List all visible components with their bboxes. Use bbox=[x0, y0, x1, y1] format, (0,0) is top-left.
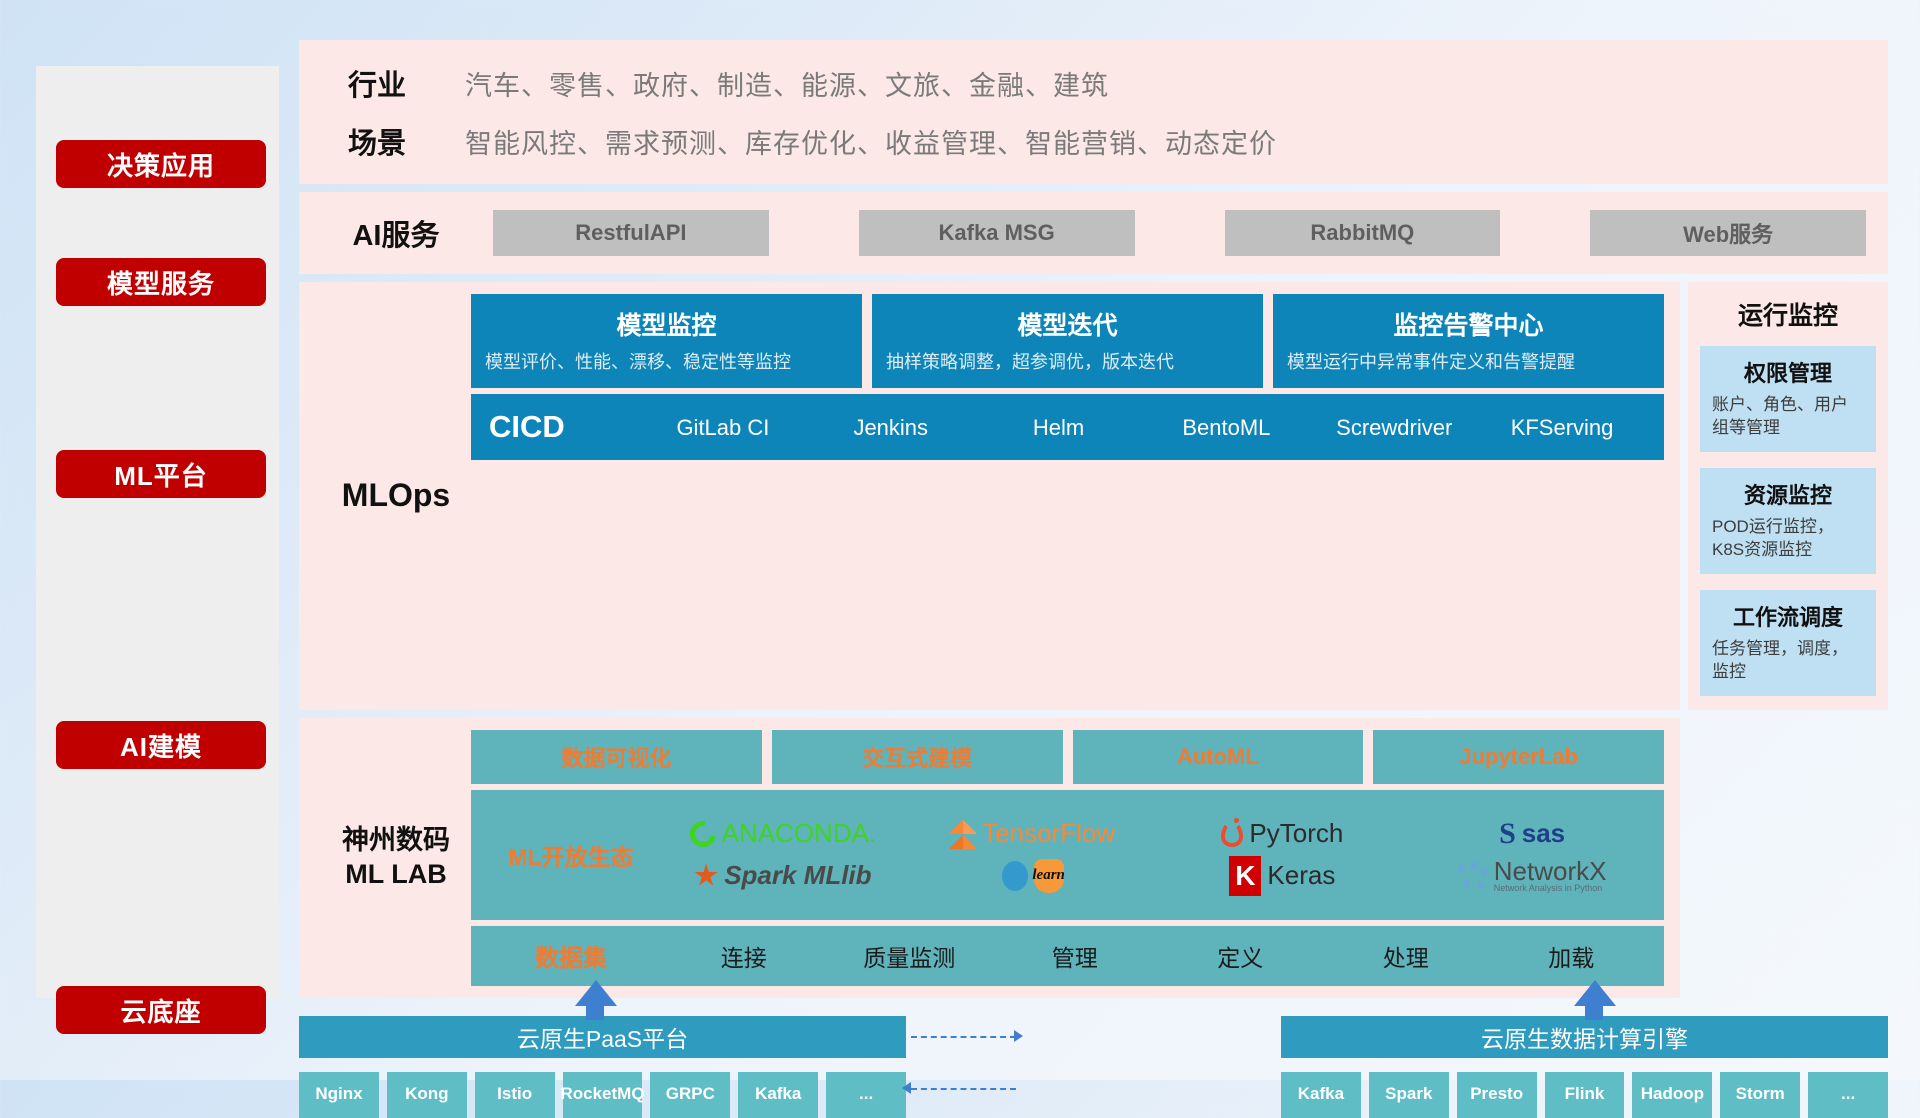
networkx-logo: NetworkX Network Analysis in Python bbox=[1458, 858, 1607, 893]
card-desc: POD运行监控，K8S资源监控 bbox=[1712, 516, 1864, 562]
rail-item-label: 云底座 bbox=[120, 992, 201, 1029]
dataset-item-processing[interactable]: 处理 bbox=[1323, 939, 1489, 973]
ai-modeling-band: 神州数码 ML LAB 数据可视化 交互式建模 AutoML JupyterLa… bbox=[299, 718, 1680, 998]
application-row-scenario: 场景 智能风控、需求预测、库存优化、收益管理、智能营销、动态定价 bbox=[329, 120, 1864, 162]
cloud-base-row: 云原生PaaS平台 Nginx Kong Istio RocketMQ GRPC… bbox=[299, 1016, 1888, 1118]
modeling-tool-jupyterlab[interactable]: JupyterLab bbox=[1373, 730, 1664, 784]
modeling-tool-data-visualization[interactable]: 数据可视化 bbox=[471, 730, 762, 784]
pytorch-flame-icon bbox=[1221, 821, 1243, 847]
networkx-graph-icon bbox=[1458, 862, 1488, 890]
sas-swirl-icon: S bbox=[1499, 817, 1516, 851]
cloud-chip-storm[interactable]: Storm bbox=[1720, 1072, 1800, 1118]
card-title: 模型迭代 bbox=[886, 306, 1249, 342]
dataset-strip: 数据集 连接 质量监测 管理 定义 处理 加载 bbox=[471, 926, 1664, 986]
mlops-card-model-monitoring[interactable]: 模型监控 模型评价、性能、漂移、稳定性等监控 bbox=[471, 294, 862, 388]
scikit-blob-icon bbox=[1002, 861, 1028, 891]
card-desc: 账户、角色、用户组等管理 bbox=[1712, 394, 1864, 440]
industry-value: 汽车、零售、政府、制造、能源、文旅、金融、建筑 bbox=[465, 64, 1109, 103]
ai-modeling-row: 神州数码 ML LAB 数据可视化 交互式建模 AutoML JupyterLa… bbox=[299, 718, 1888, 998]
ml-lab-label-line2: ML LAB bbox=[345, 859, 447, 889]
tensorflow-logo-text: TensorFlow bbox=[982, 818, 1115, 849]
monitor-card-workflow-scheduling[interactable]: 工作流调度 任务管理，调度，监控 bbox=[1700, 590, 1876, 696]
scenario-label: 场景 bbox=[329, 120, 425, 162]
card-title: 工作流调度 bbox=[1712, 600, 1864, 632]
mlops-card-alert-center[interactable]: 监控告警中心 模型运行中异常事件定义和告警提醒 bbox=[1273, 294, 1664, 388]
cicd-item-screwdriver[interactable]: Screwdriver bbox=[1310, 414, 1478, 442]
layer-rail: 决策应用 模型服务 ML平台 AI建模 云底座 bbox=[36, 66, 279, 998]
mlops-label: MLOps bbox=[321, 294, 471, 698]
dash-arrow-right-icon bbox=[1014, 1030, 1023, 1042]
cicd-item-kfserving[interactable]: KFServing bbox=[1478, 414, 1646, 442]
cloud-chip-nginx[interactable]: Nginx bbox=[299, 1072, 379, 1118]
arrow-stem-paas bbox=[586, 1002, 604, 1020]
cloud-paas-chip-list: Nginx Kong Istio RocketMQ GRPC Kafka ... bbox=[299, 1072, 906, 1118]
ai-service-chip-web-service[interactable]: Web服务 bbox=[1590, 210, 1866, 256]
spark-mllib-logo: Spark MLlib bbox=[694, 860, 871, 891]
modeling-row-spacer bbox=[1688, 718, 1888, 998]
ai-service-chip-list: RestfulAPI Kafka MSG RabbitMQ Web服务 bbox=[493, 210, 1866, 256]
scikit-leaf-icon: learn bbox=[1034, 859, 1064, 893]
cloud-chip-grpc[interactable]: GRPC bbox=[650, 1072, 730, 1118]
ml-ecosystem-label: ML开放生态 bbox=[481, 838, 661, 872]
dataset-item-loading[interactable]: 加载 bbox=[1489, 939, 1655, 973]
networkx-logo-subtext: Network Analysis in Python bbox=[1494, 884, 1607, 893]
cicd-item-bentoml[interactable]: BentoML bbox=[1142, 414, 1310, 442]
anaconda-logo: ANACONDA. bbox=[690, 818, 877, 849]
sas-logo: S sas bbox=[1499, 817, 1565, 851]
ml-ecosystem-strip: ML开放生态 ANACONDA. TensorFlow bbox=[471, 790, 1664, 920]
dash-arrow-left-icon bbox=[902, 1082, 911, 1094]
scikit-learn-logo: learn scikit learn bbox=[1002, 859, 1064, 893]
industry-label: 行业 bbox=[329, 62, 425, 104]
keras-logo-text: Keras bbox=[1267, 860, 1335, 891]
monitor-card-resource-monitoring[interactable]: 资源监控 POD运行监控，K8S资源监控 bbox=[1700, 468, 1876, 574]
dataset-item-connect[interactable]: 连接 bbox=[661, 939, 827, 973]
networkx-logo-text: NetworkX bbox=[1494, 858, 1607, 884]
runtime-monitoring-panel: 运行监控 权限管理 账户、角色、用户组等管理 资源监控 POD运行监控，K8S资… bbox=[1688, 282, 1888, 710]
application-row-industry: 行业 汽车、零售、政府、制造、能源、文旅、金融、建筑 bbox=[329, 62, 1864, 104]
runtime-monitoring-title: 运行监控 bbox=[1700, 296, 1876, 332]
pytorch-logo: PyTorch bbox=[1221, 818, 1343, 849]
dash-line-right bbox=[911, 1036, 1016, 1038]
modeling-tool-automl[interactable]: AutoML bbox=[1073, 730, 1364, 784]
ai-service-label: AI服务 bbox=[321, 212, 471, 254]
cloud-chip-more-paas[interactable]: ... bbox=[826, 1072, 906, 1118]
cicd-item-jenkins[interactable]: Jenkins bbox=[807, 414, 975, 442]
ml-ecosystem-logo-grid: ANACONDA. TensorFlow PyTorch bbox=[661, 814, 1654, 896]
chip-label: Kafka MSG bbox=[939, 220, 1055, 246]
ml-platform-row: MLOps 模型监控 模型评价、性能、漂移、稳定性等监控 模型迭代 抽样策略调整… bbox=[299, 282, 1888, 710]
card-desc: 模型运行中异常事件定义和告警提醒 bbox=[1287, 350, 1650, 374]
ai-modeling-body: 数据可视化 交互式建模 AutoML JupyterLab ML开放生态 ANA… bbox=[471, 730, 1664, 986]
mlops-body: 模型监控 模型评价、性能、漂移、稳定性等监控 模型迭代 抽样策略调整，超参调优，… bbox=[471, 294, 1664, 698]
cloud-compute-chip-list: Kafka Spark Presto Flink Hadoop Storm ..… bbox=[1281, 1072, 1888, 1118]
cloud-paas-column: 云原生PaaS平台 Nginx Kong Istio RocketMQ GRPC… bbox=[299, 1016, 906, 1118]
card-desc: 抽样策略调整，超参调优，版本迭代 bbox=[886, 350, 1249, 374]
cloud-chip-spark[interactable]: Spark bbox=[1369, 1072, 1449, 1118]
application-rows: 行业 汽车、零售、政府、制造、能源、文旅、金融、建筑 场景 智能风控、需求预测、… bbox=[329, 62, 1864, 162]
chip-label: RestfulAPI bbox=[575, 220, 686, 246]
ml-lab-label-line1: 神州数码 bbox=[342, 825, 450, 855]
rail-item-label: 决策应用 bbox=[107, 146, 215, 183]
rail-item-label: ML平台 bbox=[114, 456, 208, 493]
dataset-label: 数据集 bbox=[481, 938, 661, 973]
cloud-chip-kafka-paas[interactable]: Kafka bbox=[738, 1072, 818, 1118]
diagram-main: 行业 汽车、零售、政府、制造、能源、文旅、金融、建筑 场景 智能风控、需求预测、… bbox=[299, 40, 1888, 1040]
rail-item-ai-modeling[interactable]: AI建模 bbox=[56, 721, 266, 769]
card-title: 监控告警中心 bbox=[1287, 306, 1650, 342]
rail-item-label: AI建模 bbox=[120, 727, 202, 764]
ai-service-chip-rabbitmq[interactable]: RabbitMQ bbox=[1225, 210, 1501, 256]
spark-star-icon bbox=[694, 864, 718, 888]
spark-mllib-logo-text: Spark MLlib bbox=[724, 860, 871, 891]
cicd-item-list: GitLab CI Jenkins Helm BentoML Screwdriv… bbox=[639, 414, 1646, 442]
ai-service-chip-kafka-msg[interactable]: Kafka MSG bbox=[859, 210, 1135, 256]
mlops-card-list: 模型监控 模型评价、性能、漂移、稳定性等监控 模型迭代 抽样策略调整，超参调优，… bbox=[471, 294, 1664, 388]
cloud-compute-column: 云原生数据计算引擎 Kafka Spark Presto Flink Hadoo… bbox=[1281, 1016, 1888, 1118]
rail-item-model-service[interactable]: 模型服务 bbox=[56, 258, 266, 306]
keras-k-icon: K bbox=[1229, 856, 1261, 896]
dataset-item-management[interactable]: 管理 bbox=[992, 939, 1158, 973]
rail-item-cloud-base[interactable]: 云底座 bbox=[56, 986, 266, 1034]
cloud-chip-more-compute[interactable]: ... bbox=[1808, 1072, 1888, 1118]
application-band: 行业 汽车、零售、政府、制造、能源、文旅、金融、建筑 场景 智能风控、需求预测、… bbox=[299, 40, 1888, 184]
card-desc: 任务管理，调度，监控 bbox=[1712, 638, 1864, 684]
dataset-item-quality-monitoring[interactable]: 质量监测 bbox=[827, 939, 993, 973]
arrow-stem-compute bbox=[1585, 1002, 1603, 1020]
dataset-item-list: 连接 质量监测 管理 定义 处理 加载 bbox=[661, 939, 1654, 973]
sas-logo-text: sas bbox=[1522, 818, 1565, 849]
rail-item-decision-application[interactable]: 决策应用 bbox=[56, 140, 266, 188]
cloud-chip-hadoop[interactable]: Hadoop bbox=[1632, 1072, 1712, 1118]
cicd-label: CICD bbox=[489, 409, 639, 445]
mlops-card-model-iteration[interactable]: 模型迭代 抽样策略调整，超参调优，版本迭代 bbox=[872, 294, 1263, 388]
card-title: 模型监控 bbox=[485, 306, 848, 342]
scenario-value: 智能风控、需求预测、库存优化、收益管理、智能营销、动态定价 bbox=[465, 122, 1277, 161]
anaconda-ring-icon bbox=[684, 816, 720, 852]
pytorch-logo-text: PyTorch bbox=[1249, 818, 1343, 849]
dash-line-left bbox=[911, 1088, 1016, 1090]
cloud-chip-presto[interactable]: Presto bbox=[1457, 1072, 1537, 1118]
card-desc: 模型评价、性能、漂移、稳定性等监控 bbox=[485, 350, 848, 374]
cloud-paas-title: 云原生PaaS平台 bbox=[299, 1016, 906, 1058]
ml-lab-label: 神州数码 ML LAB bbox=[321, 730, 471, 986]
chip-label: RabbitMQ bbox=[1310, 220, 1414, 246]
cloud-chip-rocketmq[interactable]: RocketMQ bbox=[563, 1072, 643, 1118]
cicd-item-gitlab-ci[interactable]: GitLab CI bbox=[639, 414, 807, 442]
dataset-item-definition[interactable]: 定义 bbox=[1158, 939, 1324, 973]
ai-service-band: AI服务 RestfulAPI Kafka MSG RabbitMQ Web服务 bbox=[299, 192, 1888, 274]
anaconda-logo-text: ANACONDA. bbox=[722, 818, 877, 849]
cloud-chip-istio[interactable]: Istio bbox=[475, 1072, 555, 1118]
monitor-card-permission-management[interactable]: 权限管理 账户、角色、用户组等管理 bbox=[1700, 346, 1876, 452]
architecture-diagram: 决策应用 模型服务 ML平台 AI建模 云底座 行业 汽车、零售、政府、制造、能… bbox=[0, 0, 1920, 1080]
card-title: 权限管理 bbox=[1712, 356, 1864, 388]
cloud-chip-kafka-compute[interactable]: Kafka bbox=[1281, 1072, 1361, 1118]
tensorflow-logo: TensorFlow bbox=[950, 818, 1115, 849]
cicd-item-helm[interactable]: Helm bbox=[975, 414, 1143, 442]
cloud-compute-title: 云原生数据计算引擎 bbox=[1281, 1016, 1888, 1058]
ai-service-chip-restfulapi[interactable]: RestfulAPI bbox=[493, 210, 769, 256]
keras-logo: K Keras bbox=[1229, 856, 1335, 896]
rail-item-label: 模型服务 bbox=[107, 264, 215, 301]
card-title: 资源监控 bbox=[1712, 478, 1864, 510]
modeling-tool-list: 数据可视化 交互式建模 AutoML JupyterLab bbox=[471, 730, 1664, 784]
mlops-band: MLOps 模型监控 模型评价、性能、漂移、稳定性等监控 模型迭代 抽样策略调整… bbox=[299, 282, 1680, 710]
tensorflow-mark-icon bbox=[950, 819, 976, 849]
modeling-tool-interactive-modeling[interactable]: 交互式建模 bbox=[772, 730, 1063, 784]
cloud-chip-flink[interactable]: Flink bbox=[1545, 1072, 1625, 1118]
cicd-strip: CICD GitLab CI Jenkins Helm BentoML Scre… bbox=[471, 394, 1664, 460]
rail-item-ml-platform[interactable]: ML平台 bbox=[56, 450, 266, 498]
cloud-chip-kong[interactable]: Kong bbox=[387, 1072, 467, 1118]
chip-label: Web服务 bbox=[1683, 217, 1773, 249]
